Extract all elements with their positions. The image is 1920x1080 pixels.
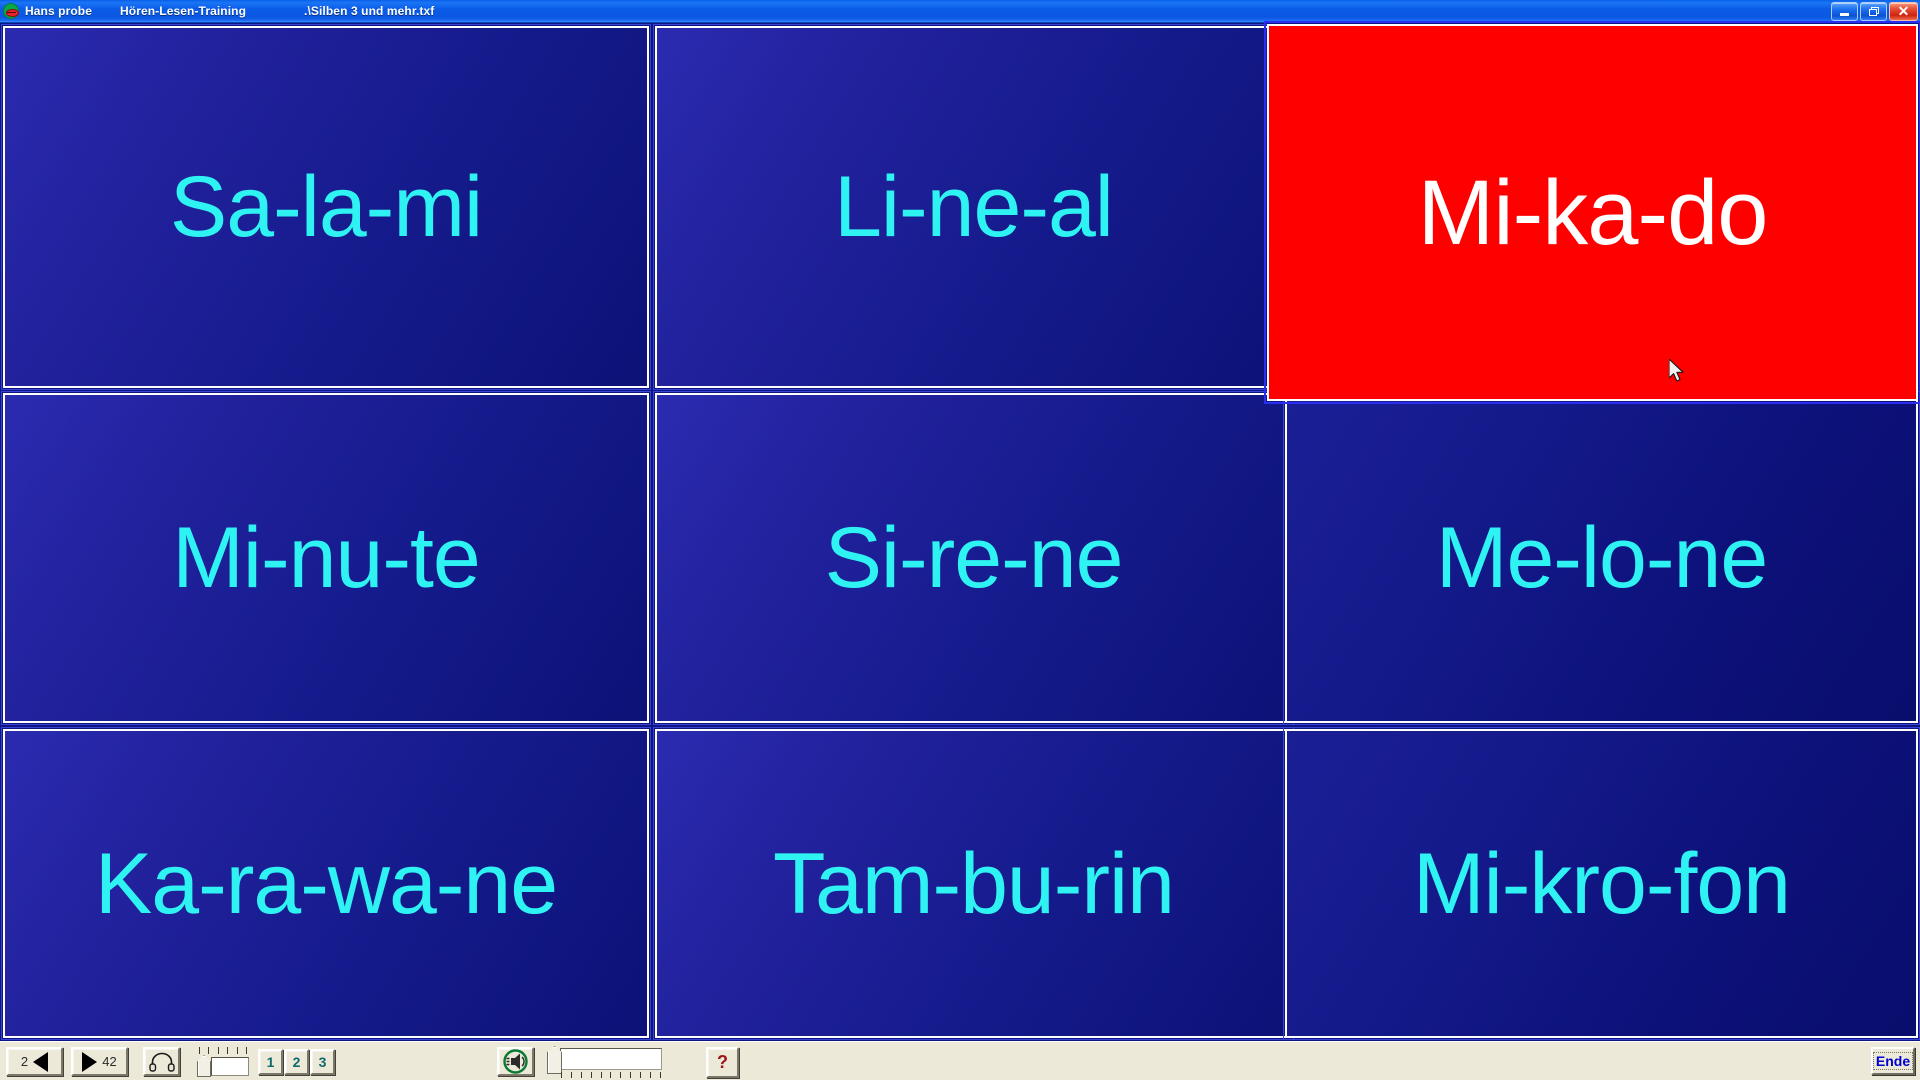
- help-button[interactable]: ?: [706, 1047, 739, 1078]
- level-button-2[interactable]: 2: [284, 1049, 309, 1075]
- end-button-label: Ende: [1873, 1052, 1913, 1070]
- end-button[interactable]: Ende: [1871, 1047, 1915, 1075]
- level-button-3[interactable]: 3: [310, 1049, 335, 1075]
- word-label: Sa-la-mi: [170, 164, 482, 250]
- titlebar: Hans probe Hören-Lesen-Training .\Silben…: [0, 0, 1920, 23]
- speed-slider-ticks: [199, 1047, 247, 1054]
- word-cell[interactable]: Mi-kro-fon: [1285, 729, 1918, 1038]
- volume-slider-ticks: [561, 1072, 661, 1078]
- titlebar-user-name: Hans probe: [25, 4, 92, 18]
- word-cell[interactable]: Mi-nu-te: [3, 393, 649, 723]
- minimize-button[interactable]: [1831, 2, 1858, 21]
- word-grid: Sa-la-mi Li-ne-al Mi-ka-do Mi-nu-te Si-r…: [0, 23, 1920, 1041]
- word-label: Li-ne-al: [834, 164, 1113, 250]
- mouth-green-circle-icon: [3, 3, 19, 19]
- level-button-1-label: 1: [267, 1054, 275, 1070]
- titlebar-app-name: Hören-Lesen-Training: [120, 4, 246, 18]
- restore-button[interactable]: [1860, 2, 1887, 21]
- level-button-1[interactable]: 1: [258, 1049, 283, 1075]
- previous-page-button[interactable]: 2: [6, 1047, 63, 1076]
- level-button-2-label: 2: [293, 1054, 301, 1070]
- titlebar-file-name: .\Silben 3 und mehr.txf: [304, 4, 434, 18]
- word-label: Mi-kro-fon: [1413, 841, 1790, 927]
- close-icon: ✕: [1898, 4, 1910, 18]
- bottom-toolbar: 2 42 1 2 3: [0, 1041, 1920, 1080]
- word-label: Ka-ra-wa-ne: [95, 841, 557, 927]
- word-cell-selected[interactable]: Mi-ka-do: [1267, 24, 1918, 401]
- word-label: Me-lo-ne: [1436, 515, 1767, 601]
- minimize-icon: [1840, 13, 1849, 16]
- window-controls: ✕: [1831, 2, 1920, 21]
- next-page-count: 42: [102, 1054, 116, 1069]
- arrow-cursor-icon: [1669, 359, 1687, 385]
- close-button[interactable]: ✕: [1889, 2, 1918, 21]
- previous-page-count: 2: [21, 1054, 28, 1069]
- headphone-button[interactable]: [143, 1047, 180, 1076]
- restore-icon: [1869, 7, 1879, 16]
- headphone-icon: [149, 1052, 175, 1072]
- word-cell[interactable]: Sa-la-mi: [3, 26, 649, 388]
- speed-slider-track[interactable]: [211, 1057, 249, 1076]
- volume-slider-track[interactable]: [560, 1048, 662, 1070]
- word-cell[interactable]: Tam-bu-rin: [655, 729, 1292, 1038]
- speed-slider[interactable]: [193, 1047, 249, 1077]
- speaker-button[interactable]: [497, 1047, 534, 1076]
- triangle-left-icon: [33, 1052, 48, 1072]
- speaker-icon: [502, 1049, 529, 1074]
- question-mark-icon: ?: [717, 1052, 728, 1073]
- word-cell[interactable]: Me-lo-ne: [1285, 393, 1918, 723]
- word-cell[interactable]: Ka-ra-wa-ne: [3, 729, 649, 1038]
- word-label: Mi-ka-do: [1418, 167, 1768, 259]
- word-label: Si-re-ne: [825, 515, 1123, 601]
- next-page-button[interactable]: 42: [71, 1047, 128, 1076]
- word-cell[interactable]: Si-re-ne: [655, 393, 1292, 723]
- word-label: Mi-nu-te: [172, 515, 479, 601]
- volume-slider[interactable]: [547, 1046, 665, 1078]
- speed-slider-thumb[interactable]: [197, 1055, 211, 1077]
- level-button-3-label: 3: [319, 1054, 327, 1070]
- triangle-right-icon: [82, 1052, 97, 1072]
- word-cell[interactable]: Li-ne-al: [655, 26, 1292, 388]
- word-label: Tam-bu-rin: [773, 841, 1174, 927]
